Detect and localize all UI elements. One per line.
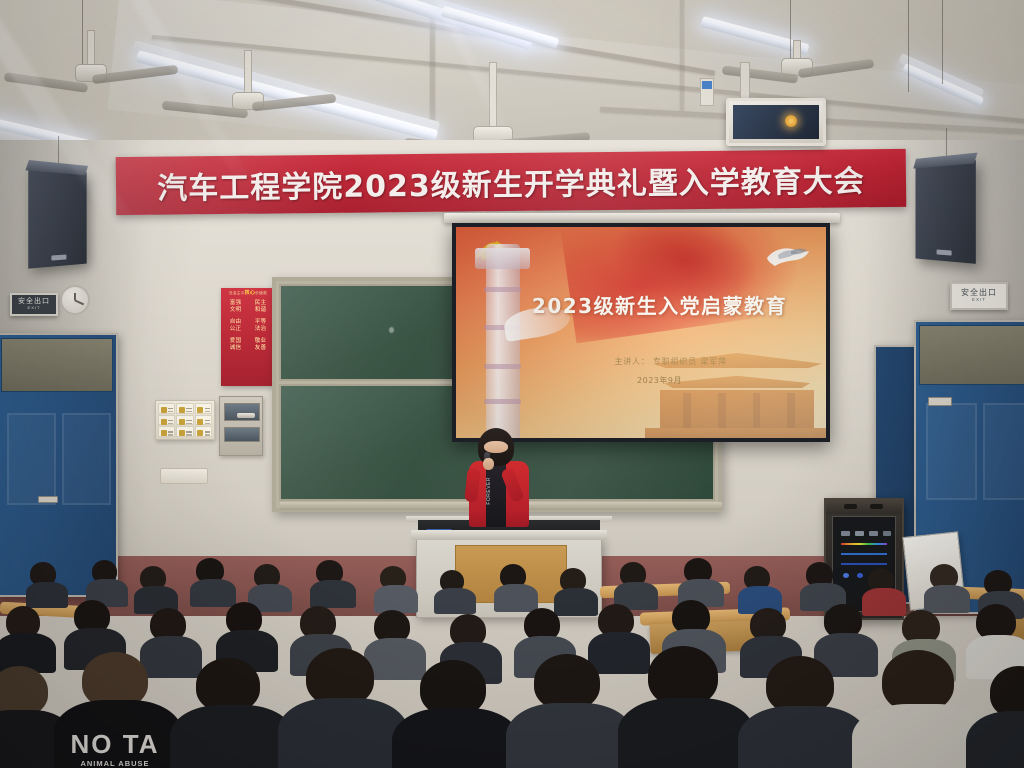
audience-member [440, 570, 470, 608]
rack-top-plate [826, 500, 902, 514]
value-word: 自由 [230, 319, 242, 327]
values-row: 诚信 友善 [223, 345, 273, 353]
torso [374, 585, 418, 613]
ceiling-fan [172, 50, 322, 116]
torso [26, 582, 68, 608]
torso [170, 705, 294, 768]
projection-screen-housing [444, 213, 840, 223]
presenter-hand [483, 458, 494, 470]
audience-area: NO TA ANIMAL ABUSE THE WORLD [0, 548, 1024, 768]
value-word: 平等 [255, 319, 267, 327]
notice-cell [158, 426, 175, 437]
chalk-smudge [389, 327, 394, 333]
audience-member [882, 650, 968, 768]
exit-sign-label-en: EXIT [972, 297, 986, 303]
head [648, 646, 718, 706]
values-group: 富强 民主 文明 和谐 [223, 300, 273, 315]
door-handle[interactable] [38, 496, 58, 503]
poster-heading-prefix: 社会主义 [229, 291, 245, 295]
gate-column [753, 393, 761, 429]
notice-cell [158, 415, 175, 426]
head [534, 654, 600, 710]
audience-member [560, 568, 592, 608]
torso [924, 585, 970, 613]
values-row: 公正 法治 [223, 326, 273, 334]
jacket-slogan-line-1: ANIMAL ABUSE [40, 760, 190, 768]
exit-sign-label-cn: 安全出口 [961, 289, 997, 297]
gate-column [718, 393, 726, 429]
gate-column [683, 393, 691, 429]
av-indicator [841, 531, 850, 536]
notice-cell [195, 403, 212, 414]
audience-member [930, 564, 964, 606]
audience-member [500, 564, 532, 604]
audience-member [990, 666, 1024, 768]
gate-base [645, 428, 826, 438]
poster-heading-suffix: 价值观 [255, 291, 267, 295]
light-hanging-wire [908, 0, 909, 92]
notice-cell [176, 415, 193, 426]
audience-member [30, 562, 64, 602]
audience-member [806, 562, 840, 604]
audience-member [766, 656, 848, 768]
audience-member [196, 658, 274, 768]
values-row: 富强 民主 [223, 300, 273, 308]
panel-window [224, 403, 260, 421]
audience-member [824, 604, 870, 664]
door-handle[interactable] [928, 397, 952, 406]
value-word: 和谐 [255, 307, 267, 315]
jacket-logo-text: NO TA [40, 730, 190, 760]
rack-handle-slot [844, 504, 857, 509]
value-word: 文明 [230, 307, 242, 315]
rack-handle-slot [870, 504, 883, 509]
fan-rod [87, 30, 95, 68]
audience-member [620, 562, 652, 602]
door-panel [62, 413, 111, 505]
torso [434, 588, 476, 614]
audience-member [976, 604, 1024, 666]
audience-member [868, 568, 900, 608]
fan-rod [489, 62, 497, 130]
audience-member [380, 566, 412, 606]
huabiao-pillar-graphic [463, 244, 548, 438]
av-indicator [883, 531, 891, 536]
wall-clock-icon [60, 285, 90, 315]
values-row: 文明 和谐 [223, 307, 273, 315]
speaker-logo [51, 255, 66, 261]
door-transom-window [919, 325, 1024, 385]
sensor-indicator [702, 81, 712, 89]
torso [278, 698, 408, 768]
fan-rod [244, 50, 252, 96]
pillar-cap [475, 248, 529, 269]
exit-sign-right: 安全出口 EXIT [950, 282, 1008, 310]
speaker-logo [937, 249, 952, 255]
event-banner: 汽车工程学院2023级新生开学典礼暨入学教育大会 [116, 149, 907, 215]
pillar-column [486, 244, 520, 438]
notice-cell [176, 403, 193, 414]
peace-dove-icon [765, 242, 811, 272]
panel-window [224, 427, 260, 442]
value-word: 富强 [230, 300, 242, 308]
value-word: 诚信 [230, 345, 242, 353]
notice-cell [176, 426, 193, 437]
ceiling-beam [680, 0, 684, 110]
projector-cage-glass [733, 105, 819, 139]
door-panel [7, 413, 56, 505]
audience-member [648, 646, 732, 768]
audience-member [74, 600, 118, 658]
head [196, 658, 260, 712]
clock-minute-hand [74, 299, 84, 305]
audience-member [140, 566, 172, 606]
audience-member [316, 560, 350, 600]
light-hanging-wire [942, 0, 943, 84]
notice-cell [195, 415, 212, 426]
torso [310, 580, 356, 608]
projector-mount [740, 62, 750, 102]
value-word: 法治 [255, 326, 267, 334]
exit-sign-label-cn: 安全出口 [18, 298, 50, 305]
values-group: 自由 平等 公正 法治 [223, 319, 273, 334]
audience-member [684, 558, 718, 600]
podium-top [411, 530, 607, 540]
slide-title: 2023级新生入党启蒙教育 [456, 290, 811, 319]
values-group: 爱国 敬业 诚信 友善 [223, 338, 273, 353]
electrical-panel[interactable] [219, 396, 263, 456]
wall-mounted-box [160, 468, 208, 484]
torso [618, 698, 754, 768]
value-word: 公正 [230, 326, 242, 334]
ceiling-fan [20, 30, 160, 90]
audience-member [196, 558, 230, 600]
audience-member [744, 566, 776, 606]
value-word: 友善 [255, 345, 267, 353]
notice-cell [195, 426, 212, 437]
door-panel [983, 403, 1024, 500]
audience-member [6, 606, 48, 662]
door-panel [926, 403, 977, 500]
exit-sign-left: 安全出口 EXIT [10, 293, 58, 316]
projector-lens [785, 115, 797, 127]
head [882, 650, 954, 712]
poster-heading-main: 核心 [245, 290, 256, 296]
audience-member [226, 602, 270, 660]
notice-cell [158, 403, 175, 414]
value-word: 民主 [255, 300, 267, 308]
ceiling-fan [412, 62, 572, 148]
wall-notice-board [155, 400, 215, 440]
av-led-strip [841, 543, 887, 545]
audience-member [420, 660, 500, 768]
gate-column [787, 393, 795, 429]
classroom-photo-scene: 汽车工程学院2023级新生开学典礼暨入学教育大会 安全出口 EXIT 安全出口 … [0, 0, 1024, 768]
audience-member [92, 560, 124, 600]
core-socialist-values-poster: 社会主义核心价值观 富强 民主 文明 和谐 自由 平等 公正 法治 爱 [221, 288, 275, 386]
torso [738, 706, 868, 768]
av-indicator [855, 531, 864, 536]
audience-member [254, 564, 286, 604]
values-row: 自由 平等 [223, 319, 273, 327]
slide-date-line: 2023年9月 [456, 375, 811, 386]
poster-heading: 社会主义核心价值观 [229, 291, 267, 297]
event-banner-text: 汽车工程学院2023级新生开学典礼暨入学教育大会 [157, 156, 865, 207]
audience-member [306, 648, 388, 768]
av-indicator [869, 531, 878, 536]
head [0, 666, 48, 716]
wall-speaker-left [28, 167, 86, 268]
projector-sensor [700, 78, 714, 106]
wall-speaker-right [915, 160, 975, 264]
projection-screen: 2023级新生入党启蒙教育 主讲人： 专职组织员 梁军萍 2023年9月 [452, 223, 830, 442]
torso [506, 703, 634, 768]
exit-sign-label-en: EXIT [28, 305, 41, 310]
door-transom-window [1, 338, 113, 392]
slide-presenter-line: 主讲人： 专职组织员 梁军萍 [456, 354, 819, 370]
presenter-person: FOREVER [464, 428, 534, 528]
presentation-slide: 2023级新生入党启蒙教育 主讲人： 专职组织员 梁军萍 2023年9月 [456, 227, 826, 438]
pillar-band [484, 399, 521, 404]
ceiling-projector [726, 98, 826, 146]
panel-switch[interactable] [237, 413, 255, 418]
audience-member [534, 654, 614, 768]
torso [392, 708, 520, 768]
